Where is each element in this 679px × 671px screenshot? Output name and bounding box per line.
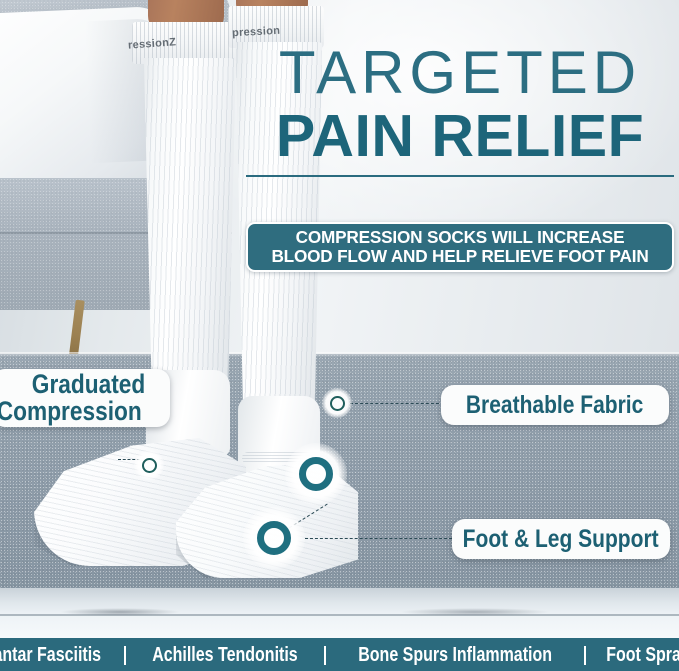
banner-separator (324, 646, 326, 665)
circle-ring-icon (257, 521, 291, 555)
brand-text-right: pression (232, 25, 281, 40)
headline-line-1: TARGETED (246, 44, 674, 103)
callout-label-line-1: Graduated (32, 371, 145, 398)
product-marketing-image: ressionZ pression TARGETED PAIN RELIEF C… (0, 0, 679, 671)
subheading-box: COMPRESSION SOCKS WILL INCREASE BLOOD FL… (246, 222, 674, 272)
floor-shadow-left (60, 608, 180, 616)
callout-label-line-2: Compression (0, 398, 142, 425)
circle-ring-icon (299, 457, 333, 491)
carpet-edge (0, 352, 679, 357)
callout-label-line-1: Foot & Leg Support (463, 527, 659, 552)
marker-ankle-support (285, 443, 347, 505)
circle-ring-icon (330, 396, 345, 411)
marker-graduated-compression (134, 450, 164, 480)
marker-foot-leg-support (243, 507, 305, 569)
conditions-banner: Plantar Fasciitis Achilles Tendonitis Bo… (0, 640, 679, 671)
floor-shadow-right (400, 608, 550, 616)
connector-line-breathable-fabric (350, 403, 444, 404)
headline-divider (246, 175, 674, 177)
headline-block: TARGETED PAIN RELIEF (246, 44, 674, 185)
condition-item-foot-sprains: Foot Sprains (606, 644, 679, 667)
subheading-line-1: COMPRESSION SOCKS WILL INCREASE (296, 228, 625, 247)
callout-foot-leg-support: Foot & Leg Support (452, 519, 670, 559)
connector-line-foot-leg-support (305, 538, 457, 539)
condition-item-plantar-fasciitis: Plantar Fasciitis (0, 644, 101, 667)
callout-breathable-fabric: Breathable Fabric (441, 385, 669, 425)
callout-graduated-compression: Graduated Compression (0, 369, 170, 427)
callout-label-line-1: Breathable Fabric (466, 393, 643, 418)
sock-leg-left (138, 58, 236, 388)
banner-separator (584, 646, 586, 665)
circle-ring-icon (142, 458, 157, 473)
conditions-list: Plantar Fasciitis Achilles Tendonitis Bo… (0, 644, 679, 667)
banner-separator (124, 646, 126, 665)
condition-item-achilles-tendonitis: Achilles Tendonitis (152, 644, 298, 667)
subheading-line-2: BLOOD FLOW AND HELP RELIEVE FOOT PAIN (271, 247, 648, 266)
condition-item-bone-spurs-inflammation: Bone Spurs Inflammation (358, 644, 552, 667)
headline-line-2: PAIN RELIEF (246, 107, 674, 166)
marker-breathable-fabric (322, 388, 352, 418)
